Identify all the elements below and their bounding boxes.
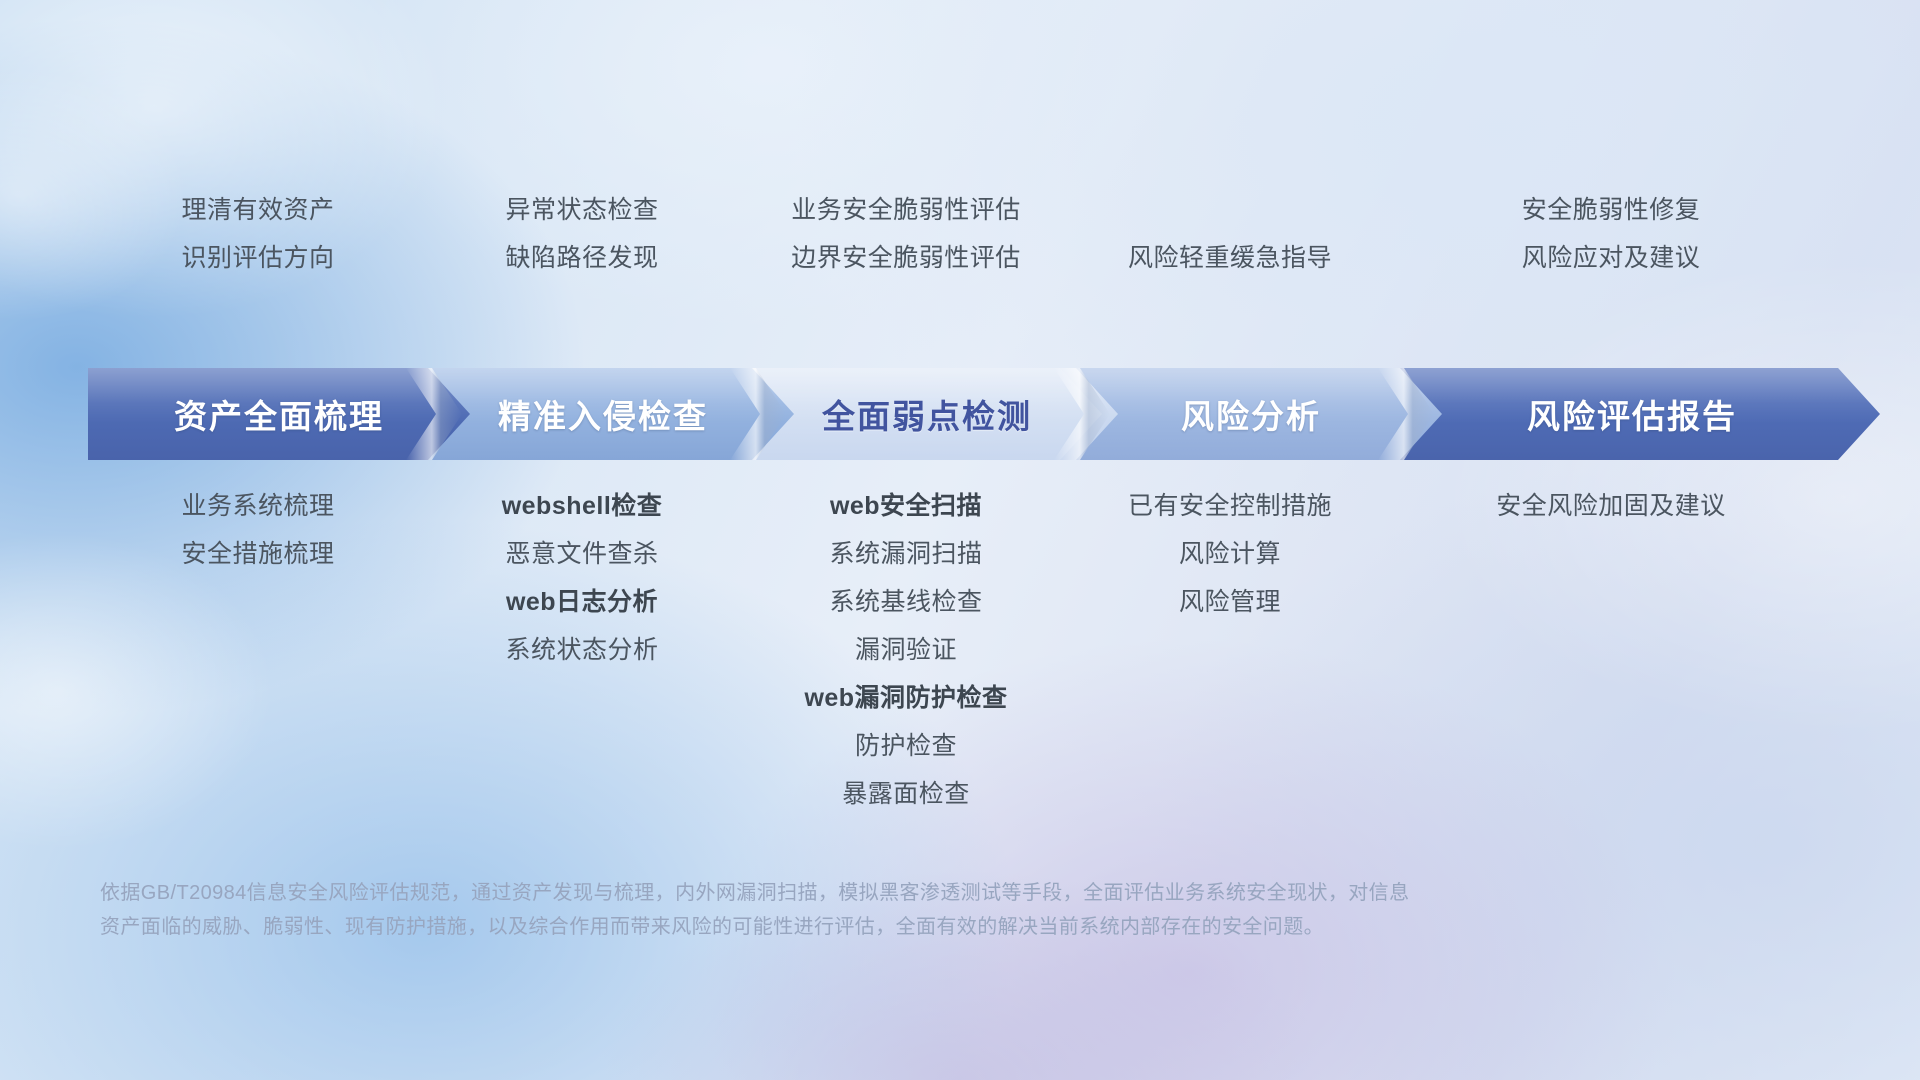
chevron-label: 资产全面梳理 bbox=[174, 390, 384, 438]
stage-above-list-asset-inventory: 理清有效资产识别评估方向 bbox=[88, 186, 428, 282]
detail-item: 防护检查 bbox=[736, 722, 1076, 770]
detail-item: 漏洞验证 bbox=[736, 626, 1076, 674]
detail-item: 恶意文件查杀 bbox=[412, 530, 752, 578]
chevron-label: 精准入侵检查 bbox=[498, 390, 708, 438]
detail-item: 业务系统梳理 bbox=[88, 482, 428, 530]
stage-detail-list-intrusion-check: webshell检查恶意文件查杀web日志分析系统状态分析 bbox=[412, 482, 752, 674]
annotation-item: 理清有效资产 bbox=[88, 186, 428, 234]
stage-detail-list-weakness-detection: web安全扫描系统漏洞扫描系统基线检查漏洞验证web漏洞防护检查防护检查暴露面检… bbox=[736, 482, 1076, 818]
stage-above-list-intrusion-check: 异常状态检查缺陷路径发现 bbox=[412, 186, 752, 282]
detail-item: 暴露面检查 bbox=[736, 770, 1076, 818]
stage-above-list-assessment-report: 安全脆弱性修复风险应对及建议 bbox=[1384, 186, 1838, 282]
detail-item: 安全风险加固及建议 bbox=[1384, 482, 1838, 530]
annotation-item: 风险轻重缓急指导 bbox=[1060, 234, 1400, 282]
chevron-label: 风险评估报告 bbox=[1527, 390, 1737, 438]
footer-note: 依据GB/T20984信息安全风险评估规范，通过资产发现与梳理，内外网漏洞扫描，… bbox=[100, 876, 1620, 944]
chevron-label: 风险分析 bbox=[1181, 390, 1321, 438]
stage-detail-list-risk-analysis: 已有安全控制措施风险计算风险管理 bbox=[1060, 482, 1400, 626]
annotation-item: 边界安全脆弱性评估 bbox=[736, 234, 1076, 282]
detail-item: 系统基线检查 bbox=[736, 578, 1076, 626]
detail-item: 安全措施梳理 bbox=[88, 530, 428, 578]
annotation-item: 安全脆弱性修复 bbox=[1384, 186, 1838, 234]
footer-line-2: 资产面临的威胁、脆弱性、现有防护措施，以及综合作用而带来风险的可能性进行评估，全… bbox=[100, 910, 1620, 944]
chevron-stage-assessment-report[interactable]: 风险评估报告 bbox=[1384, 368, 1880, 460]
stage-detail-list-assessment-report: 安全风险加固及建议 bbox=[1384, 482, 1838, 530]
detail-item: 系统漏洞扫描 bbox=[736, 530, 1076, 578]
annotation-item: 异常状态检查 bbox=[412, 186, 752, 234]
chevron-stage-asset-inventory[interactable]: 资产全面梳理 bbox=[88, 368, 470, 460]
chevron-label: 全面弱点检测 bbox=[822, 390, 1032, 438]
detail-item: 风险计算 bbox=[1060, 530, 1400, 578]
chevron-band: 资产全面梳理精准入侵检查全面弱点检测风险分析风险评估报告 bbox=[88, 368, 1838, 460]
detail-item: web日志分析 bbox=[412, 578, 752, 626]
detail-item: web漏洞防护检查 bbox=[736, 674, 1076, 722]
detail-item: webshell检查 bbox=[412, 482, 752, 530]
annotation-item: 风险应对及建议 bbox=[1384, 234, 1838, 282]
stage-above-list-weakness-detection: 业务安全脆弱性评估边界安全脆弱性评估 bbox=[736, 186, 1076, 282]
annotation-item: 缺陷路径发现 bbox=[412, 234, 752, 282]
annotation-item: 业务安全脆弱性评估 bbox=[736, 186, 1076, 234]
annotation-item: 识别评估方向 bbox=[88, 234, 428, 282]
stage-above-list-risk-analysis: 风险轻重缓急指导 bbox=[1060, 234, 1400, 282]
slide-canvas: 理清有效资产识别评估方向异常状态检查缺陷路径发现业务安全脆弱性评估边界安全脆弱性… bbox=[0, 0, 1920, 1080]
footer-line-1: 依据GB/T20984信息安全风险评估规范，通过资产发现与梳理，内外网漏洞扫描，… bbox=[100, 876, 1620, 910]
detail-item: 已有安全控制措施 bbox=[1060, 482, 1400, 530]
detail-item: 系统状态分析 bbox=[412, 626, 752, 674]
stage-detail-list-asset-inventory: 业务系统梳理安全措施梳理 bbox=[88, 482, 428, 578]
detail-item: web安全扫描 bbox=[736, 482, 1076, 530]
detail-item: 风险管理 bbox=[1060, 578, 1400, 626]
